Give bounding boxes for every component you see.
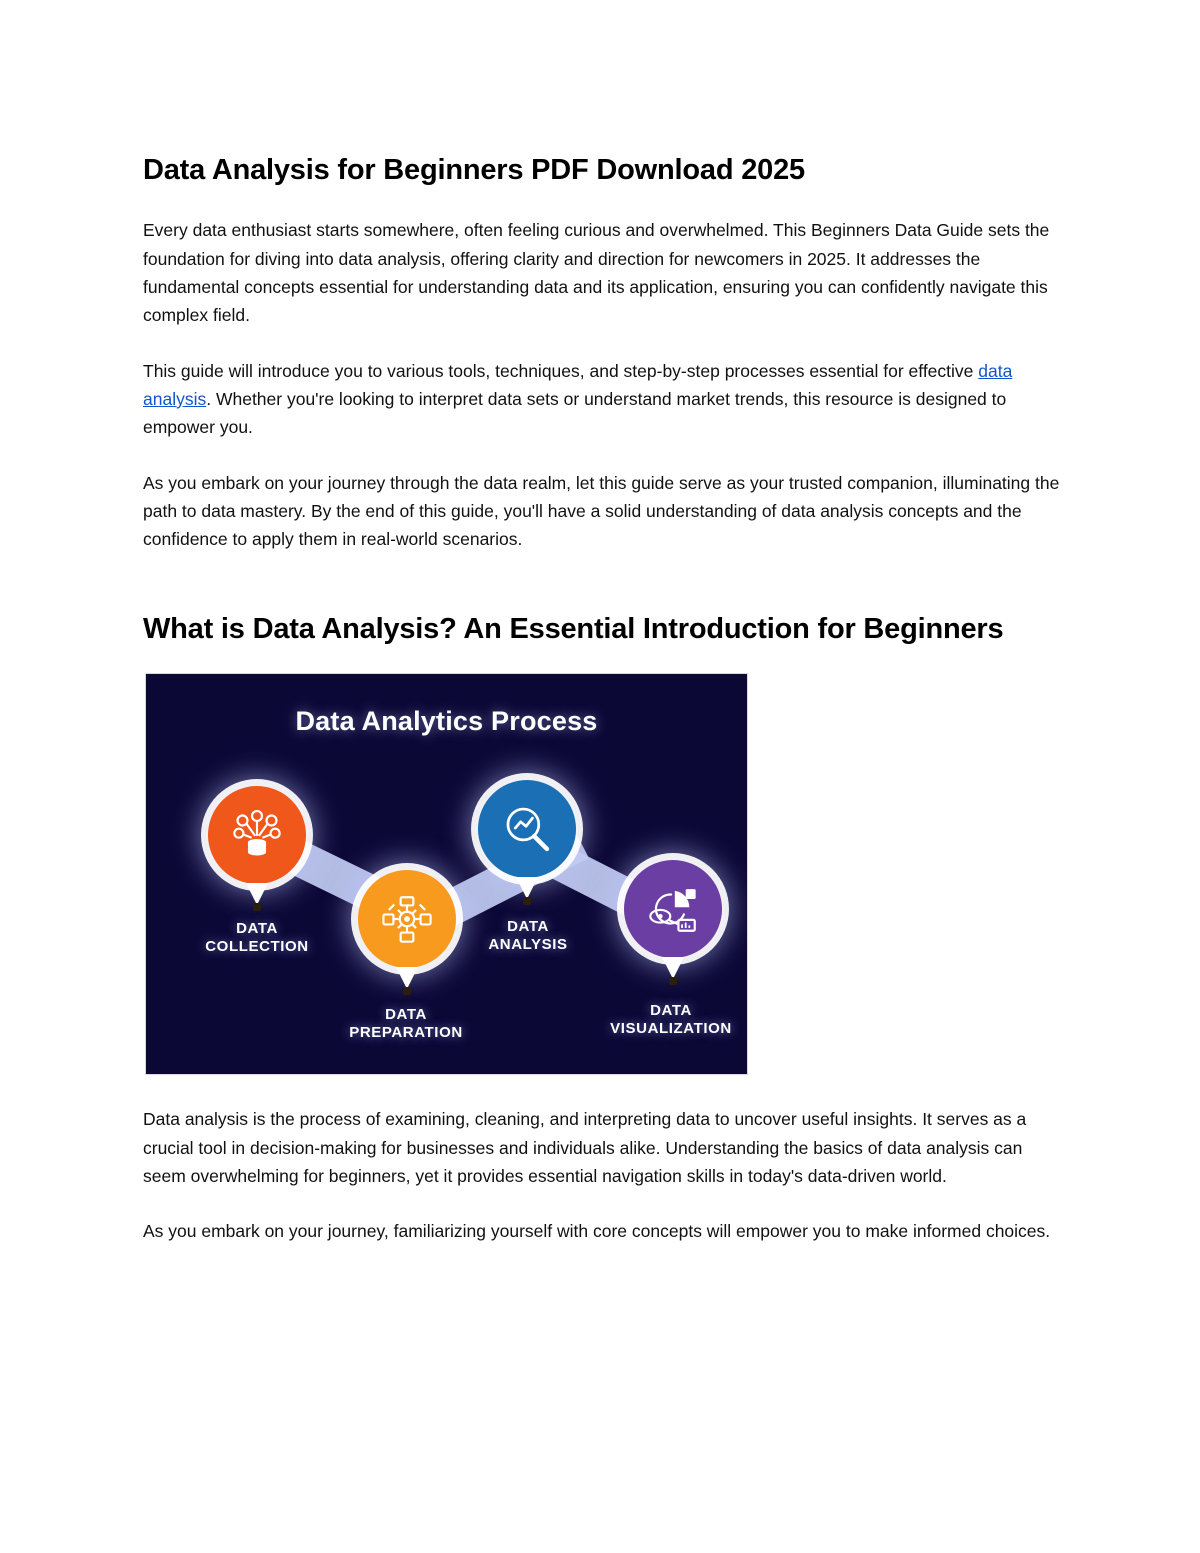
process-label-data-analysis: DATA ANALYSIS: [433, 918, 623, 953]
label-line-1: DATA: [576, 1002, 748, 1020]
label-line-2: ANALYSIS: [433, 936, 623, 954]
magnifier-trend-icon: [498, 800, 556, 858]
process-label-data-preparation: DATA PREPARATION: [311, 1006, 501, 1041]
paragraph-intro-2: This guide will introduce you to various…: [143, 357, 1063, 442]
node-pin-dot: [523, 897, 531, 905]
pie-chart-dashboard-icon: [644, 880, 702, 938]
node-pin: [396, 967, 418, 989]
page-title: Data Analysis for Beginners PDF Download…: [143, 152, 1063, 188]
process-node-data-collection: [208, 786, 306, 884]
database-network-icon: [228, 806, 286, 864]
label-line-2: VISUALIZATION: [576, 1020, 748, 1038]
document-content: Data Analysis for Beginners PDF Download…: [143, 152, 1063, 1246]
label-line-2: COLLECTION: [162, 938, 352, 956]
node-pin-dot: [403, 987, 411, 995]
node-pin-dot: [253, 903, 261, 911]
label-line-1: DATA: [311, 1006, 501, 1024]
paragraph-intro-3: As you embark on your journey through th…: [143, 469, 1063, 554]
document-page: Data Analysis for Beginners PDF Download…: [0, 0, 1200, 1553]
data-analytics-process-figure: Data Analytics Process: [145, 673, 748, 1075]
process-label-data-collection: DATA COLLECTION: [162, 920, 352, 955]
process-label-data-visualization: DATA VISUALIZATION: [576, 1002, 748, 1037]
node-pin: [662, 957, 684, 979]
label-line-1: DATA: [433, 918, 623, 936]
node-pin-dot: [669, 977, 677, 985]
figure-title: Data Analytics Process: [146, 706, 747, 737]
paragraph-body-2: As you embark on your journey, familiari…: [143, 1217, 1063, 1245]
process-node-data-visualization: [624, 860, 722, 958]
node-pin: [516, 877, 538, 899]
gears-processing-icon: [378, 890, 436, 948]
label-line-2: PREPARATION: [311, 1024, 501, 1042]
paragraph-text-after-link: . Whether you're looking to interpret da…: [143, 389, 1006, 437]
paragraph-text-before-link: This guide will introduce you to various…: [143, 361, 978, 381]
label-line-1: DATA: [162, 920, 352, 938]
paragraph-intro-1: Every data enthusiast starts somewhere, …: [143, 216, 1063, 329]
node-pin: [246, 883, 268, 905]
section-heading-what-is-data-analysis: What is Data Analysis? An Essential Intr…: [143, 608, 1013, 652]
paragraph-body-1: Data analysis is the process of examinin…: [143, 1105, 1063, 1190]
process-node-data-analysis: [478, 780, 576, 878]
